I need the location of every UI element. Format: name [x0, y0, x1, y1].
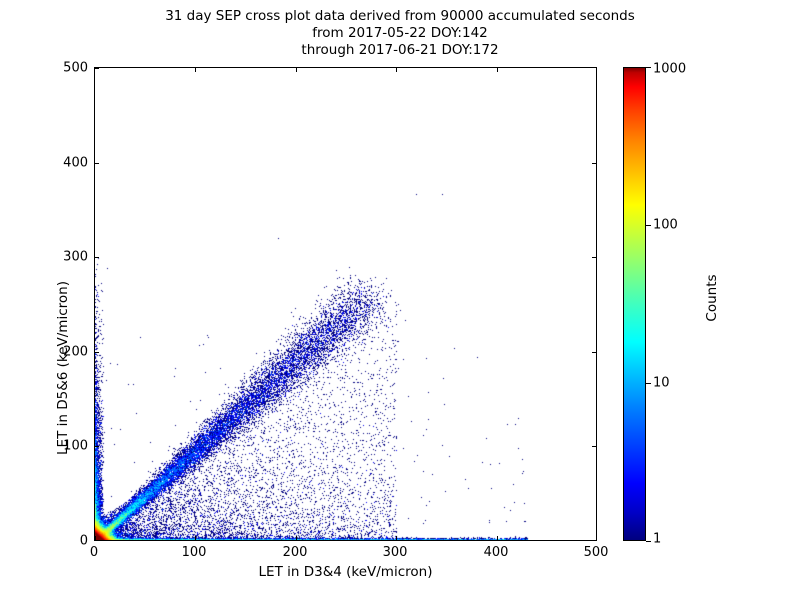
y-axis-label-container: LET in D5&6 (keV/micron)	[23, 180, 47, 430]
x-tick-label: 400	[484, 545, 509, 560]
figure-canvas: 31 day SEP cross plot data derived from …	[0, 0, 800, 600]
plot-title: 31 day SEP cross plot data derived from …	[0, 8, 800, 59]
colorbar-tick-label: 1000	[653, 62, 686, 77]
x-axis-label: LET in D3&4 (keV/micron)	[94, 564, 597, 580]
title-line-2: from 2017-05-22 DOY:142	[0, 25, 800, 42]
x-tick-top	[396, 68, 397, 72]
x-tick-label: 100	[182, 545, 207, 560]
y-axis-label: LET in D5&6 (keV/micron)	[55, 243, 71, 493]
colorbar-gradient	[623, 67, 646, 541]
title-line-1: 31 day SEP cross plot data derived from …	[0, 8, 800, 25]
x-tick-label: 300	[383, 545, 408, 560]
colorbar-tick	[646, 383, 651, 384]
y-tick-label: 500	[44, 61, 88, 76]
y-tick-right	[592, 163, 596, 164]
y-tick-label: 0	[44, 534, 88, 549]
x-tick-label: 500	[584, 545, 609, 560]
y-tick-right	[592, 352, 596, 353]
x-tick	[497, 536, 498, 540]
x-tick	[195, 536, 196, 540]
colorbar-tick	[646, 67, 651, 68]
colorbar-title-container: Counts	[700, 230, 724, 370]
colorbar-tick	[646, 541, 651, 542]
x-tick	[596, 536, 597, 540]
y-tick	[95, 352, 99, 353]
x-tick	[296, 536, 297, 540]
plot-axes	[94, 67, 597, 541]
x-tick-label: 200	[283, 545, 308, 560]
y-tick	[95, 68, 99, 69]
scatter-plot-data	[95, 68, 597, 541]
x-tick-top	[497, 68, 498, 72]
x-tick-top	[296, 68, 297, 72]
y-tick	[95, 446, 99, 447]
y-tick-label: 400	[44, 156, 88, 171]
x-tick	[95, 536, 96, 540]
x-tick-label: 0	[90, 545, 98, 560]
y-tick	[95, 257, 99, 258]
colorbar-tick	[646, 225, 651, 226]
x-tick	[396, 536, 397, 540]
colorbar-tick-label: 1	[653, 532, 661, 547]
colorbar-tick-label: 10	[653, 376, 670, 391]
x-tick-top	[195, 68, 196, 72]
title-line-3: through 2017-06-21 DOY:172	[0, 42, 800, 59]
colorbar-title: Counts	[704, 228, 720, 368]
y-tick	[95, 163, 99, 164]
y-tick-right	[592, 446, 596, 447]
colorbar-tick-label: 100	[653, 218, 678, 233]
y-tick-right	[592, 257, 596, 258]
